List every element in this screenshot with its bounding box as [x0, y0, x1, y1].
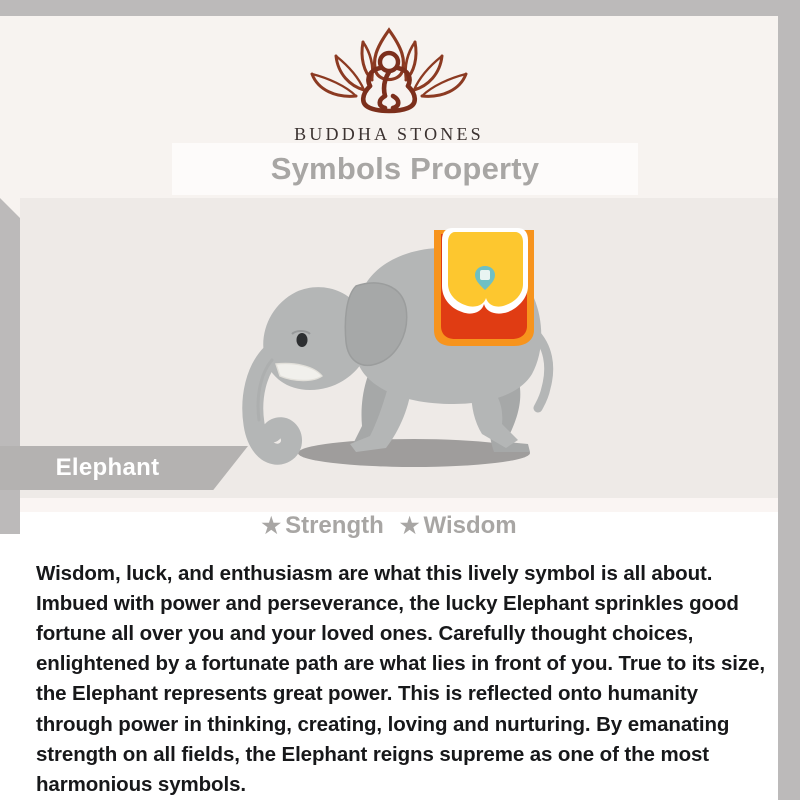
attribute-strength: ★Strength [261, 512, 383, 539]
walking-elephant-with-saddle-illustration [238, 212, 578, 472]
symbol-description: Wisdom, luck, and enthusiasm are what th… [36, 559, 772, 800]
star-icon: ★ [400, 513, 420, 538]
symbol-property-infographic: BUDDHA STONES Symbols Property [0, 0, 800, 800]
description-section-top-tint [0, 498, 778, 512]
symbol-attributes: ★Strength★Wisdom [0, 512, 778, 540]
attribute-wisdom-label: Wisdom [424, 512, 517, 539]
page-title: Symbols Property [172, 143, 638, 195]
attribute-strength-label: Strength [285, 512, 384, 539]
symbol-label: Elephant [0, 446, 215, 490]
top-border-band [0, 0, 800, 16]
elephant-eye [297, 333, 308, 347]
lotus-meditation-figure-icon [284, 22, 494, 120]
saddle-gem-highlight [480, 270, 490, 280]
symbol-illustration [238, 212, 578, 472]
brand-name: BUDDHA STONES [0, 124, 778, 145]
attribute-wisdom: ★Wisdom [400, 512, 517, 539]
star-icon: ★ [261, 513, 281, 538]
brand-logo: BUDDHA STONES [0, 22, 778, 145]
right-border-band [778, 0, 800, 800]
